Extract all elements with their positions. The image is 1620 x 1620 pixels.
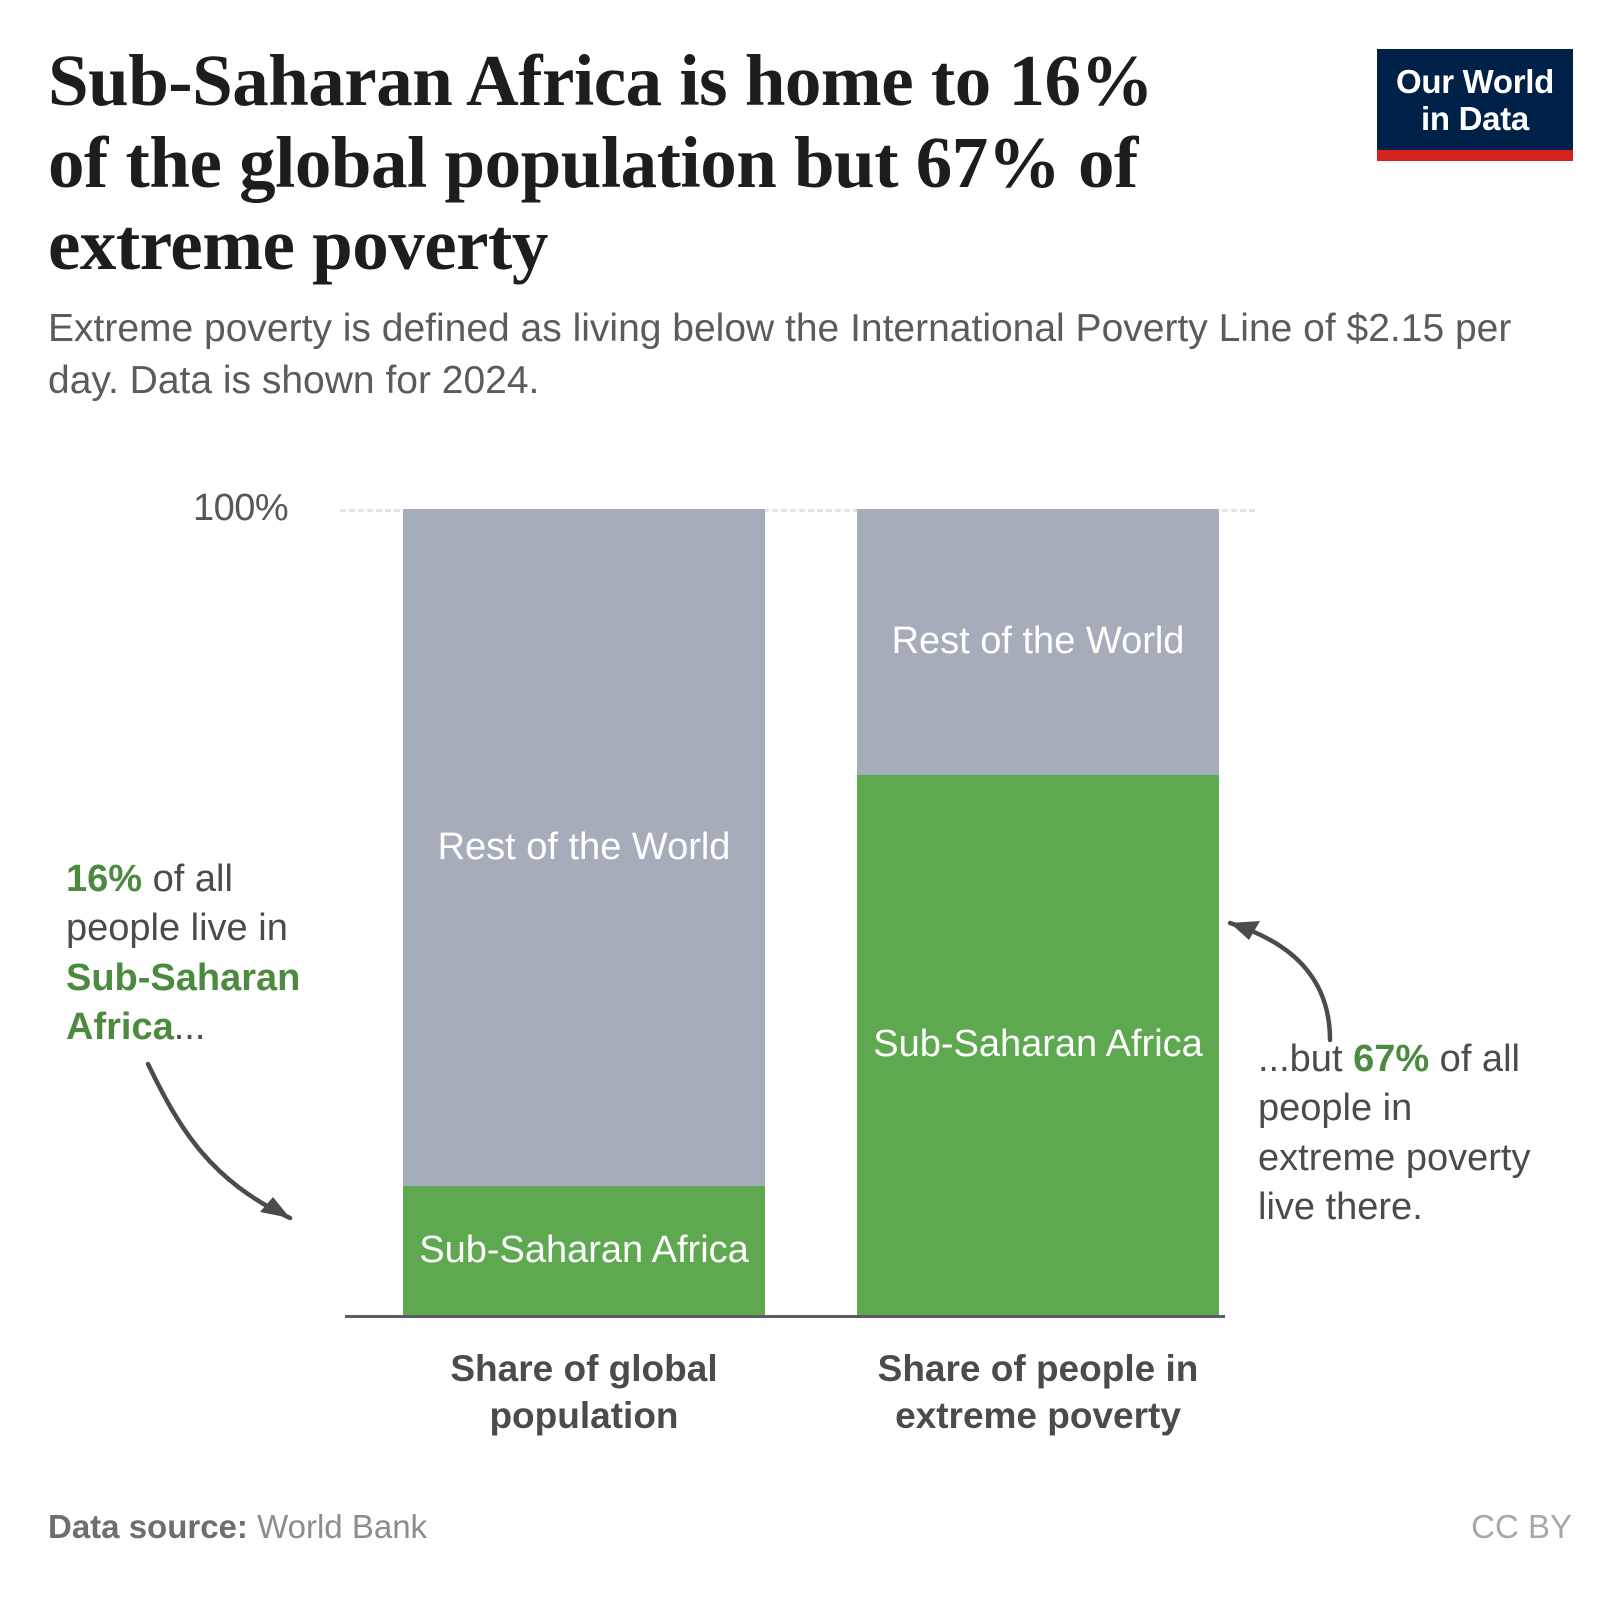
segment-label: Rest of the World: [438, 823, 731, 872]
segment-sub-saharan-africa: Sub-Saharan Africa: [857, 775, 1219, 1315]
data-source: Data source: World Bank: [48, 1508, 427, 1546]
segment-label: Sub-Saharan Africa: [873, 1020, 1203, 1069]
bar-share-of-people-in-extreme-poverty[interactable]: Rest of the World Sub-Saharan Africa: [857, 509, 1219, 1315]
y-axis-tick-100: 100%: [193, 487, 288, 530]
annotation-right-highlight-percent: 67%: [1353, 1038, 1429, 1080]
segment-sub-saharan-africa: Sub-Saharan Africa: [403, 1186, 765, 1315]
license-label[interactable]: CC BY: [1471, 1508, 1572, 1546]
chart-footer: Data source: World Bank CC BY: [48, 1508, 1572, 1546]
segment-rest-of-the-world: Rest of the World: [403, 509, 765, 1186]
x-axis-line: [345, 1315, 1225, 1318]
x-axis-label-global-population: Share of global population: [374, 1345, 794, 1440]
annotation-left-ellipsis: ...: [174, 1006, 206, 1048]
annotation-right: ...but 67% of all people in extreme pove…: [1258, 1035, 1558, 1233]
segment-rest-of-the-world: Rest of the World: [857, 509, 1219, 775]
arrow-right-icon: [1200, 895, 1360, 1055]
segment-label: Rest of the World: [892, 617, 1185, 666]
segment-label: Sub-Saharan Africa: [419, 1226, 749, 1275]
x-axis-label-extreme-poverty: Share of people in extreme poverty: [828, 1345, 1248, 1440]
stacked-bar-chart: 100% Rest of the World Sub-Saharan Afric…: [0, 0, 1620, 1620]
data-source-value: World Bank: [257, 1508, 427, 1545]
annotation-left-highlight-percent: 16%: [66, 858, 142, 900]
data-source-label: Data source:: [48, 1508, 248, 1545]
annotation-left: 16% of all people live in Sub-Saharan Af…: [66, 855, 336, 1053]
arrow-left-icon: [140, 1060, 360, 1280]
bar-share-of-global-population[interactable]: Rest of the World Sub-Saharan Africa: [403, 509, 765, 1315]
